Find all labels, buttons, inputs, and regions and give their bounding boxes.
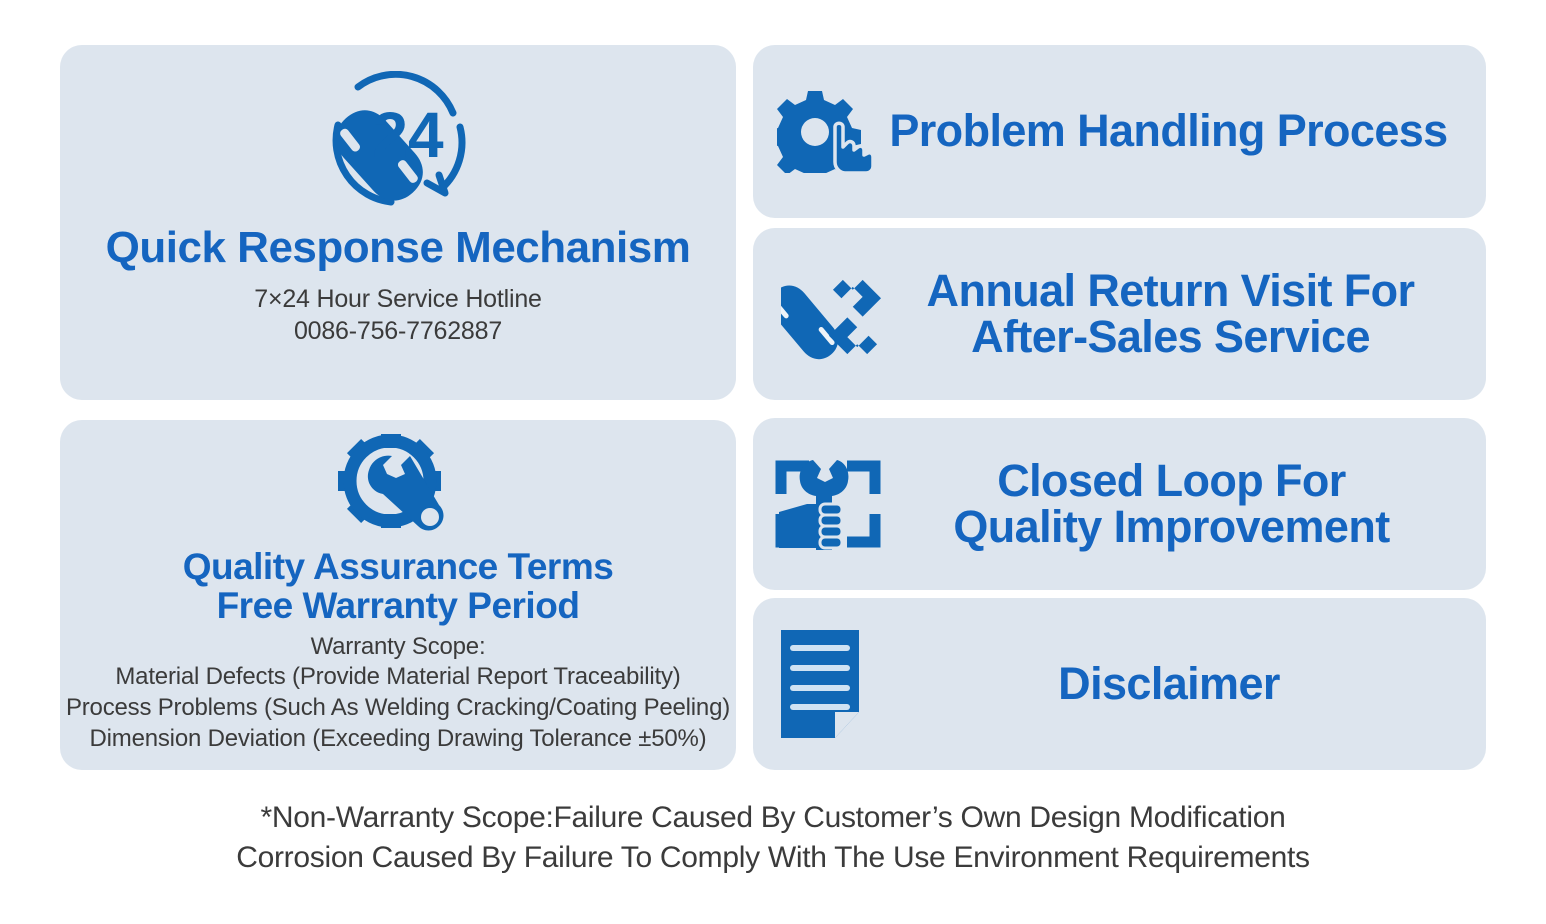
card-quality-assurance-body: Warranty Scope: Material Defects (Provid… xyxy=(66,632,730,755)
hotline-number: 0086-756-7762887 xyxy=(254,315,542,347)
after-sales-service-infographic: 24 Quick Response Mechanism 7×24 Hour Se… xyxy=(0,0,1546,924)
svg-text:24: 24 xyxy=(372,99,444,171)
annual-title-line2: After-Sales Service xyxy=(881,314,1460,360)
gear-hand-pointer-icon xyxy=(777,91,877,173)
hotline-label: 7×24 Hour Service Hotline xyxy=(254,283,542,315)
closedloop-title-line2: Quality Improvement xyxy=(883,504,1460,550)
non-warranty-note: *Non-Warranty Scope:Failure Caused By Cu… xyxy=(0,798,1546,878)
card-quality-assurance[interactable]: Quality Assurance Terms Free Warranty Pe… xyxy=(60,420,736,770)
hand-wrench-frame-icon xyxy=(773,456,883,552)
phone-24-hour-icon: 24 xyxy=(313,71,483,211)
qa-title-line2: Free Warranty Period xyxy=(183,587,614,626)
non-warranty-line1: *Non-Warranty Scope:Failure Caused By Cu… xyxy=(0,798,1546,838)
document-lines-icon xyxy=(773,628,878,740)
card-closed-loop-title: Closed Loop For Quality Improvement xyxy=(883,458,1460,551)
phone-two-arrows-icon xyxy=(781,268,881,360)
card-problem-handling[interactable]: Problem Handling Process xyxy=(753,45,1486,218)
annual-title-line1: Annual Return Visit For xyxy=(881,268,1460,314)
card-problem-handling-title: Problem Handling Process xyxy=(877,108,1460,154)
card-closed-loop[interactable]: Closed Loop For Quality Improvement xyxy=(753,418,1486,590)
card-annual-return-visit[interactable]: Annual Return Visit For After-Sales Serv… xyxy=(753,228,1486,400)
card-disclaimer-title: Disclaimer xyxy=(878,661,1460,707)
non-warranty-line2: Corrosion Caused By Failure To Comply Wi… xyxy=(0,838,1546,878)
warranty-item-process: Process Problems (Such As Welding Cracki… xyxy=(66,693,730,724)
card-quick-response[interactable]: 24 Quick Response Mechanism 7×24 Hour Se… xyxy=(60,45,736,400)
gear-wrench-icon xyxy=(338,434,458,542)
card-quick-response-subtitle: 7×24 Hour Service Hotline 0086-756-77628… xyxy=(254,283,542,347)
card-quality-assurance-title: Quality Assurance Terms Free Warranty Pe… xyxy=(183,548,614,626)
closedloop-title-line1: Closed Loop For xyxy=(883,458,1460,504)
card-quick-response-title: Quick Response Mechanism xyxy=(106,225,691,271)
qa-title-line1: Quality Assurance Terms xyxy=(183,548,614,587)
warranty-scope-label: Warranty Scope: xyxy=(66,632,730,663)
warranty-item-material: Material Defects (Provide Material Repor… xyxy=(66,662,730,693)
warranty-item-dimension: Dimension Deviation (Exceeding Drawing T… xyxy=(66,724,730,755)
card-annual-return-visit-title: Annual Return Visit For After-Sales Serv… xyxy=(881,268,1460,361)
card-disclaimer[interactable]: Disclaimer xyxy=(753,598,1486,770)
